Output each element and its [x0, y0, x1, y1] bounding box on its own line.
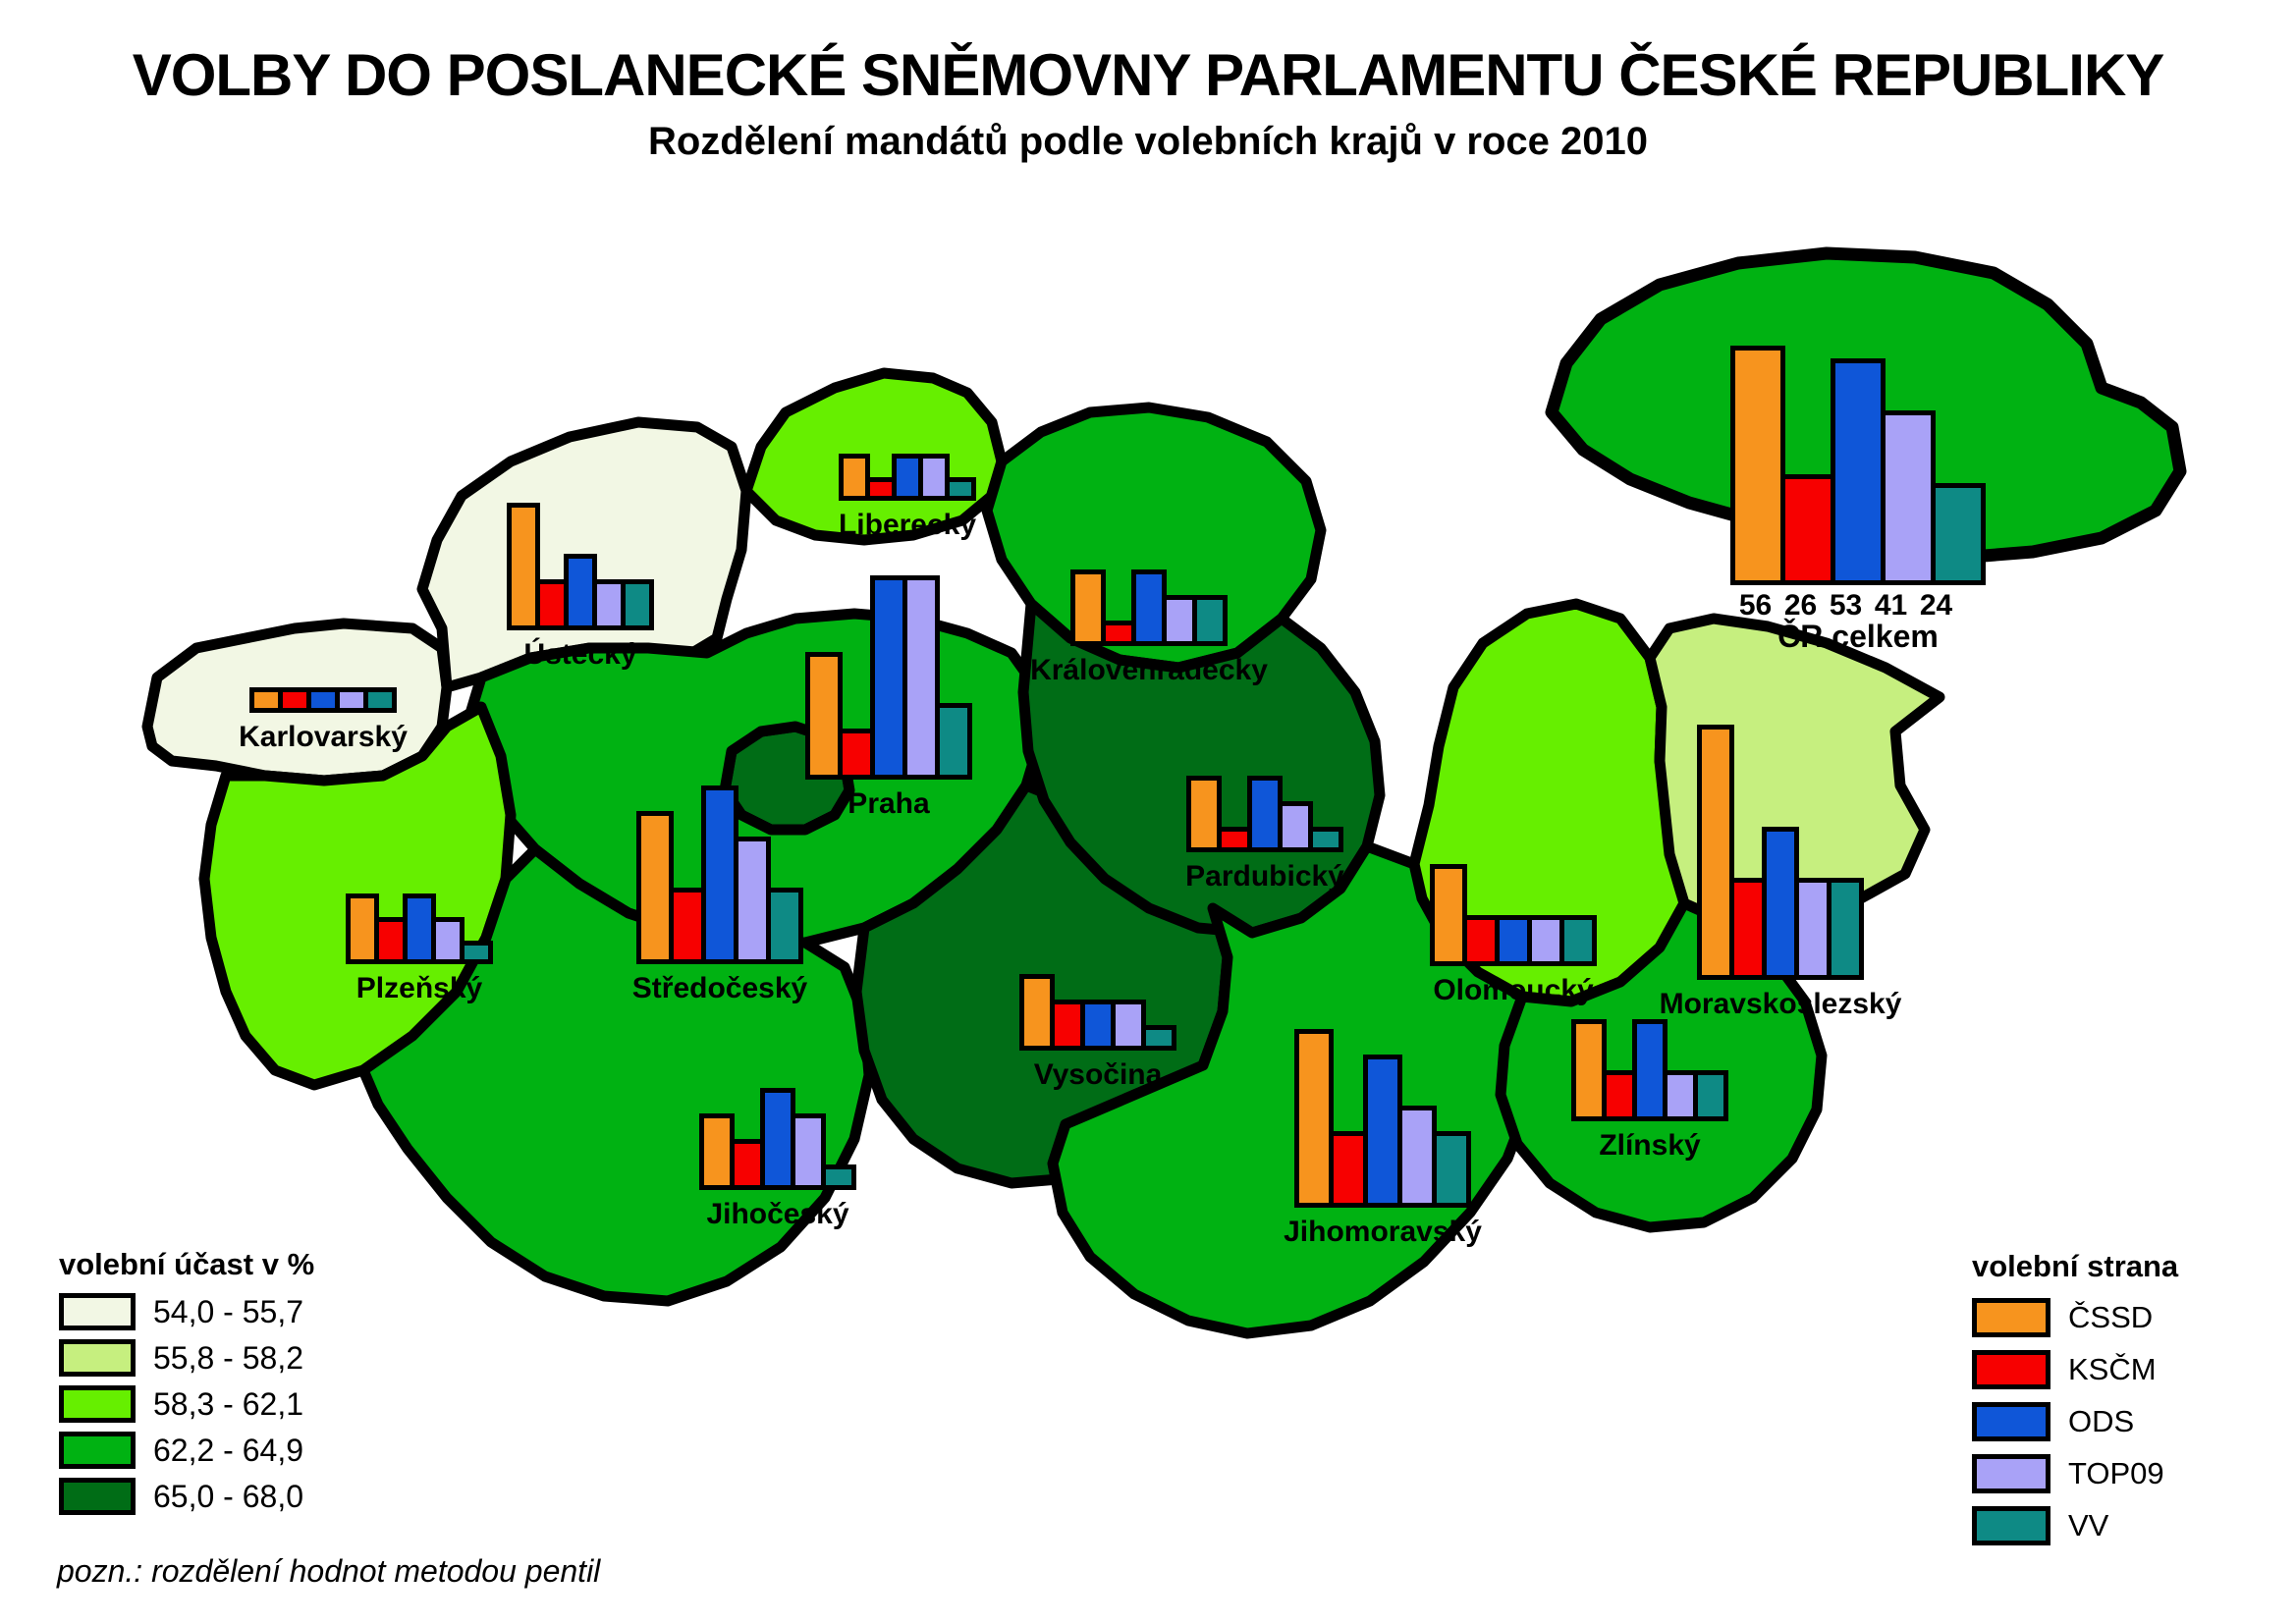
turnout-legend-row: 58,3 - 62,1 — [59, 1385, 314, 1423]
bar-vv — [945, 477, 976, 501]
region-bars — [1019, 974, 1176, 1051]
national-bars — [1730, 346, 1986, 585]
national-total-chart: 5626534124 ČR celkem — [1730, 346, 1986, 655]
region-label: Olomoucký — [1433, 974, 1593, 1007]
party-legend-label: VV — [2068, 1508, 2108, 1543]
party-legend-rows: ČSSDKSČMODSTOP09VV — [1972, 1298, 2178, 1545]
turnout-legend-title: volební účast v % — [59, 1247, 314, 1282]
turnout-legend-row: 55,8 - 58,2 — [59, 1339, 314, 1377]
bar-vv — [1192, 595, 1228, 646]
region-chart--steck-: Ústecký — [507, 503, 654, 630]
turnout-legend-label: 65,0 - 68,0 — [153, 1479, 303, 1515]
national-bar-ksčm — [1780, 474, 1835, 585]
bar-vv — [1432, 1131, 1471, 1208]
region-label: Plzeňský — [356, 972, 482, 1005]
region-bars — [1294, 1029, 1471, 1208]
party-legend-label: ČSSD — [2068, 1300, 2153, 1335]
party-legend-swatch — [1972, 1402, 2050, 1441]
bar-vv — [621, 579, 654, 630]
region-chart-zl-nsk-: Zlínský — [1571, 1019, 1728, 1121]
region-chart-kr-lov-hradecky: Královéhradecky — [1070, 569, 1228, 646]
party-legend-label: ODS — [2068, 1404, 2134, 1439]
bar-vv — [821, 1164, 856, 1190]
region-bars — [249, 687, 397, 713]
region-label: Jihočeský — [706, 1198, 848, 1231]
region-label: Moravskoslezský — [1660, 988, 1902, 1021]
region-bars — [699, 1088, 856, 1190]
turnout-legend-label: 58,3 - 62,1 — [153, 1386, 303, 1423]
party-legend-swatch — [1972, 1506, 2050, 1545]
region-bars — [1186, 776, 1343, 852]
bar-vv — [1308, 827, 1343, 852]
national-value-ksčm: 26 — [1776, 589, 1826, 623]
region-bars — [1697, 725, 1864, 980]
turnout-legend-swatch — [59, 1339, 136, 1377]
region-chart-st-edo-esk-: Středočeský — [636, 785, 803, 964]
party-legend-row: ČSSD — [1972, 1298, 2178, 1337]
bar-vv — [935, 703, 972, 780]
party-legend-label: TOP09 — [2068, 1456, 2164, 1491]
party-legend-row: TOP09 — [1972, 1454, 2178, 1493]
turnout-legend-row: 65,0 - 68,0 — [59, 1478, 314, 1515]
map-note: pozn.: rozdělení hodnot metodou pentil — [57, 1553, 600, 1590]
region-label: Středočeský — [632, 972, 807, 1005]
region-chart-plze-sk-: Plzeňský — [346, 893, 493, 964]
turnout-legend-swatch — [59, 1478, 136, 1515]
region-chart-jihomoravsk-: Jihomoravský — [1294, 1029, 1471, 1208]
region-bars — [1070, 569, 1228, 646]
region-chart-libereck-: Liberecký — [839, 454, 976, 501]
region-bars — [1430, 864, 1597, 966]
region-bars — [1571, 1019, 1728, 1121]
region-label: Praha — [847, 787, 929, 821]
bar-čssd — [1294, 1029, 1334, 1208]
turnout-legend-swatch — [59, 1293, 136, 1330]
region-chart-vyso-ina: Vysočina — [1019, 974, 1176, 1051]
national-bar-ods — [1831, 358, 1886, 585]
bar-vv — [1141, 1025, 1176, 1051]
bar-ksčm — [1329, 1131, 1368, 1208]
party-legend-swatch — [1972, 1350, 2050, 1389]
region-chart-jiho-esk-: Jihočeský — [699, 1088, 856, 1190]
national-value-ods: 53 — [1821, 589, 1871, 623]
national-bar-čssd — [1730, 346, 1785, 585]
region-bars — [346, 893, 493, 964]
region-chart-praha: Praha — [805, 575, 972, 780]
region-bars — [636, 785, 803, 964]
turnout-legend-swatch — [59, 1432, 136, 1469]
bar-vv — [766, 888, 803, 964]
region-label: Pardubický — [1185, 860, 1344, 893]
region-bars — [839, 454, 976, 501]
region-label: Karlovarský — [239, 721, 408, 754]
party-legend-row: KSČM — [1972, 1350, 2178, 1389]
region-label: Jihomoravský — [1284, 1216, 1482, 1249]
party-legend-swatch — [1972, 1298, 2050, 1337]
national-chart-label: ČR celkem — [1730, 619, 1986, 655]
party-legend-title: volební strana — [1972, 1249, 2178, 1284]
bar-vv — [460, 941, 493, 964]
national-bar-top09 — [1881, 410, 1936, 585]
party-legend-swatch — [1972, 1454, 2050, 1493]
national-value-vv: 24 — [1911, 589, 1961, 623]
party-legend-label: KSČM — [2068, 1352, 2157, 1387]
turnout-legend-row: 62,2 - 64,9 — [59, 1432, 314, 1469]
bar-ods — [1363, 1055, 1402, 1208]
region-bars — [507, 503, 654, 630]
region-bars — [805, 575, 972, 780]
bar-vv — [1559, 915, 1597, 966]
turnout-legend-label: 55,8 - 58,2 — [153, 1340, 303, 1377]
national-value-top09: 41 — [1866, 589, 1916, 623]
bar-vv — [1827, 878, 1864, 980]
bar-vv — [1693, 1070, 1728, 1121]
party-legend-row: ODS — [1972, 1402, 2178, 1441]
region-label: Královéhradecky — [1030, 654, 1268, 687]
turnout-legend-swatch — [59, 1385, 136, 1423]
region-label: Ústecký — [523, 638, 636, 672]
turnout-legend-label: 54,0 - 55,7 — [153, 1294, 303, 1330]
region-label: Liberecký — [839, 509, 976, 542]
turnout-legend-label: 62,2 - 64,9 — [153, 1433, 303, 1469]
national-bar-values: 5626534124 — [1730, 589, 1986, 623]
bar-top09 — [1397, 1106, 1437, 1208]
region-chart-moravskoslezsk-: Moravskoslezský — [1697, 725, 1864, 980]
party-legend: volební strana ČSSDKSČMODSTOP09VV — [1972, 1249, 2178, 1558]
national-value-čssd: 56 — [1730, 589, 1780, 623]
party-legend-row: VV — [1972, 1506, 2178, 1545]
bar-vv — [363, 687, 397, 713]
national-bar-vv — [1931, 483, 1986, 585]
region-chart-pardubick-: Pardubický — [1186, 776, 1343, 852]
turnout-legend-row: 54,0 - 55,7 — [59, 1293, 314, 1330]
region-label: Vysočina — [1034, 1058, 1163, 1092]
region-label: Zlínský — [1599, 1129, 1700, 1163]
turnout-legend: volební účast v % 54,0 - 55,755,8 - 58,2… — [59, 1247, 314, 1524]
turnout-legend-rows: 54,0 - 55,755,8 - 58,258,3 - 62,162,2 - … — [59, 1293, 314, 1515]
region-chart-olomouck-: Olomoucký — [1430, 864, 1597, 966]
region-chart-karlovarsk-: Karlovarský — [249, 687, 397, 713]
